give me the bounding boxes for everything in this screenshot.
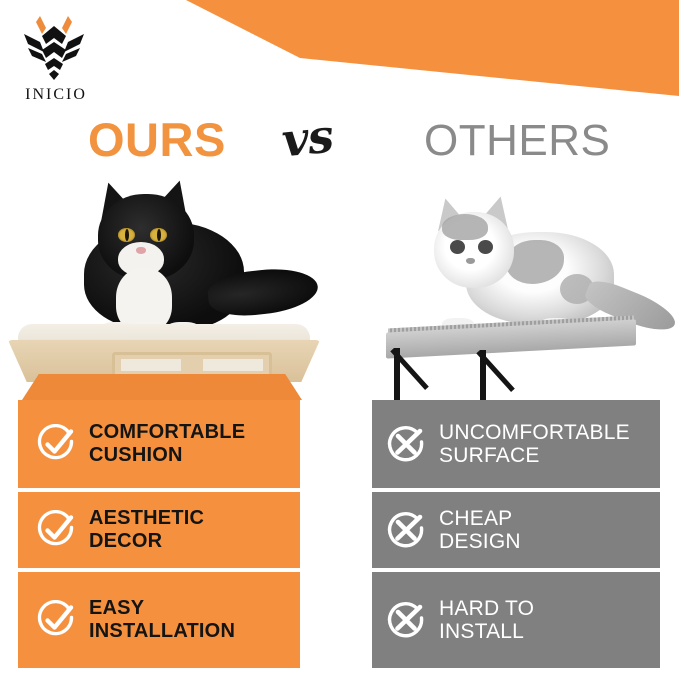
- ours-feature-row: AESTHETIC DECOR: [18, 492, 300, 568]
- product-photo-ours: [0, 178, 340, 400]
- ours-feature-label: COMFORTABLE CUSHION: [89, 421, 245, 467]
- check-circle-icon: [36, 510, 76, 550]
- others-feature-row: CHEAP DESIGN: [372, 492, 660, 568]
- metal-bracket-shape: [480, 350, 526, 394]
- headline-row: OURS vs OTHERS: [0, 108, 679, 180]
- headline-ours: OURS: [88, 110, 226, 170]
- check-circle-icon: [36, 424, 76, 464]
- gray-cat-illustration: [420, 196, 620, 336]
- brand-logo: INICIO: [8, 12, 100, 106]
- bee-logo-icon: [20, 12, 88, 84]
- headline-vs: vs: [279, 106, 336, 171]
- product-photo-others: [368, 178, 679, 400]
- brand-name: INICIO: [14, 86, 98, 104]
- orange-diagonal-banner: [0, 0, 679, 112]
- headline-others: OTHERS: [424, 112, 610, 170]
- others-feature-row: UNCOMFORTABLE SURFACE: [372, 400, 660, 488]
- comparison-infographic: INICIO OURS vs OTHERS: [0, 0, 679, 673]
- ours-feature-label: EASY INSTALLATION: [89, 597, 235, 643]
- check-circle-icon: [36, 600, 76, 640]
- shelf-base-shape: [22, 374, 302, 400]
- others-feature-row: HARD TO INSTALL: [372, 572, 660, 668]
- x-circle-icon: [386, 424, 426, 464]
- ours-feature-row: EASY INSTALLATION: [18, 572, 300, 668]
- others-feature-label: CHEAP DESIGN: [439, 507, 521, 553]
- x-circle-icon: [386, 600, 426, 640]
- ours-feature-label: AESTHETIC DECOR: [89, 507, 204, 553]
- tuxedo-cat-illustration: [62, 184, 270, 336]
- metal-bracket-shape: [394, 348, 440, 400]
- ours-feature-row: COMFORTABLE CUSHION: [18, 400, 300, 488]
- x-circle-icon: [386, 510, 426, 550]
- others-feature-label: UNCOMFORTABLE SURFACE: [439, 421, 630, 467]
- others-feature-label: HARD TO INSTALL: [439, 597, 534, 643]
